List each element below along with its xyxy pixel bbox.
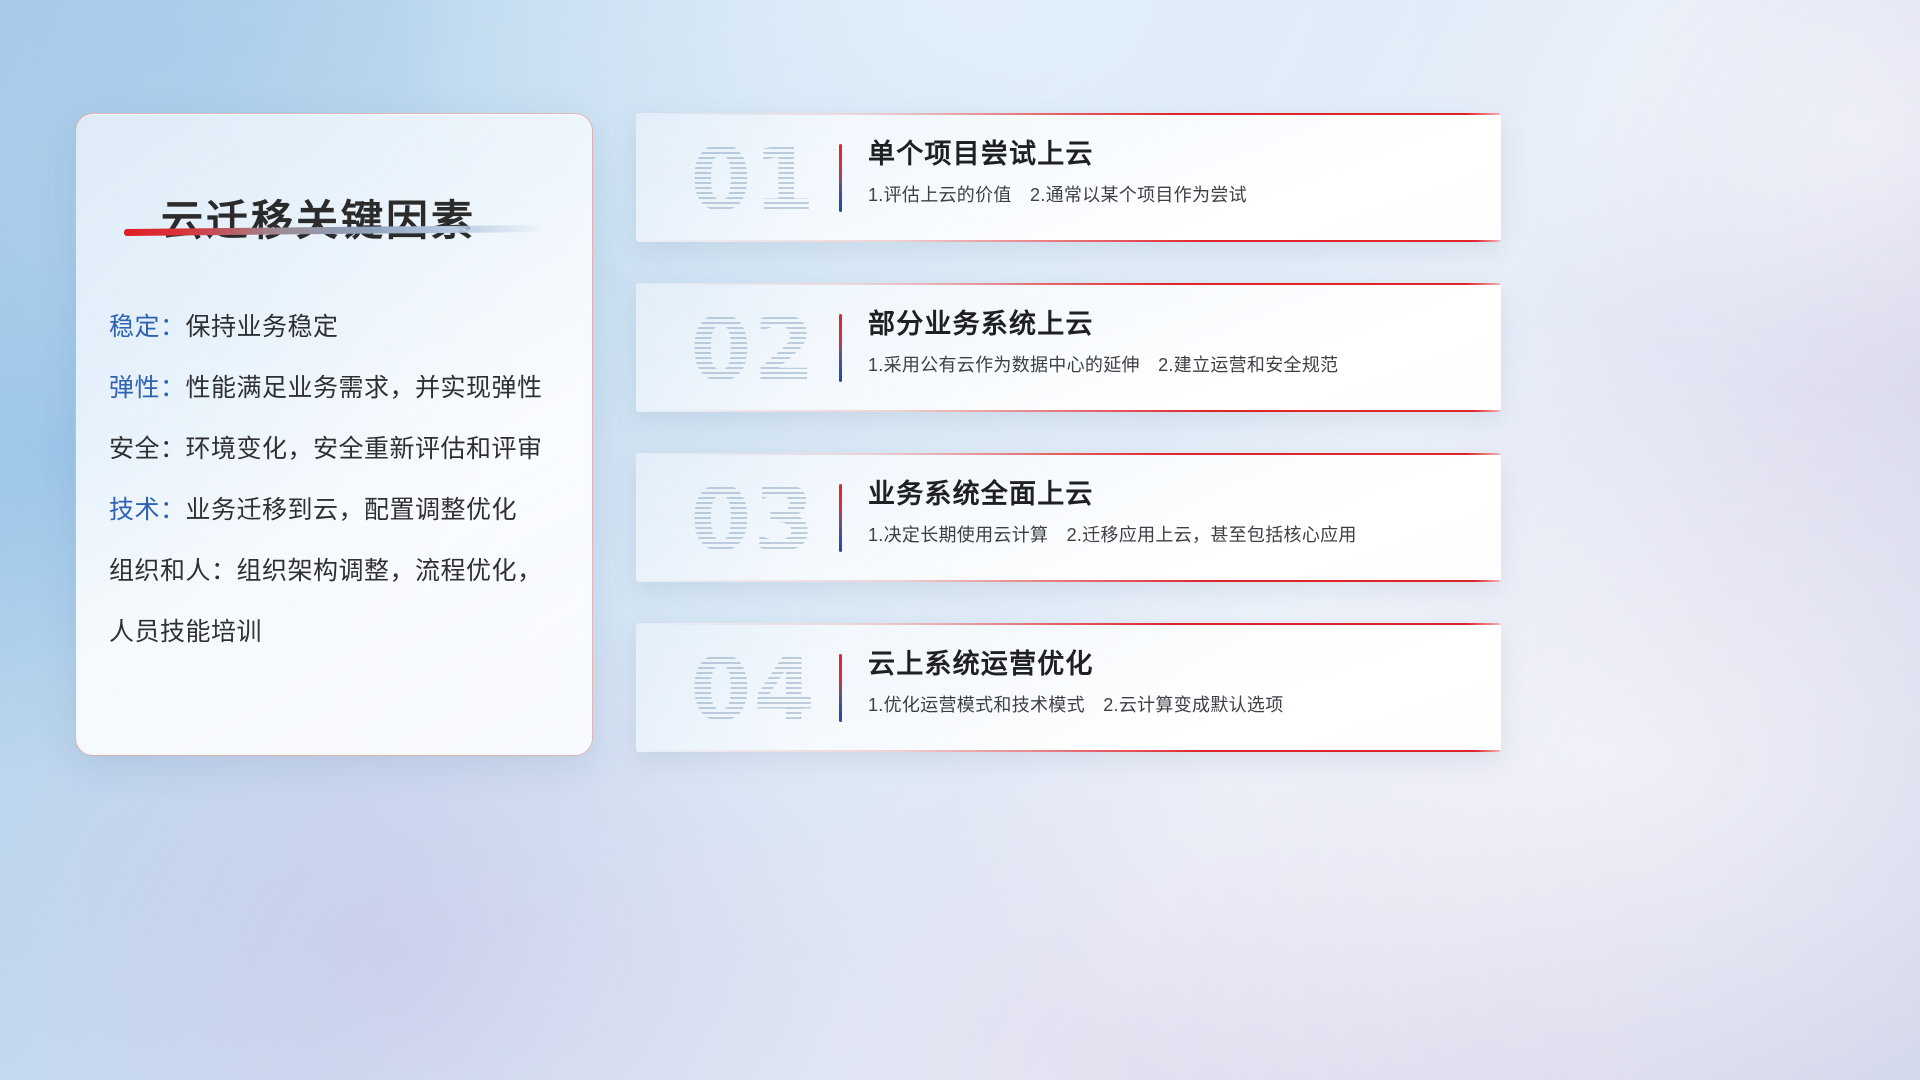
list-item-text: 组织架构调整，流程优化， bbox=[237, 557, 543, 585]
list-item-text: 环境变化，安全重新评估和评审 bbox=[186, 435, 543, 463]
list-item-label: 弹性： bbox=[109, 374, 186, 402]
list-item: 弹性：性能满足业务需求，并实现弹性 bbox=[109, 370, 568, 406]
stage-title: 部分业务系统上云 bbox=[868, 305, 1477, 343]
stage-accent-bar bbox=[839, 144, 842, 212]
stage-description: 1.决定长期使用云计算 2.迁移应用上云，甚至包括核心应用 bbox=[868, 522, 1477, 548]
list-item-text: 性能满足业务需求，并实现弹性 bbox=[186, 374, 543, 402]
stage-number-watermark: 04 bbox=[666, 637, 841, 741]
stage-card-body: 云上系统运营优化 1.优化运营模式和技术模式 2.云计算变成默认选项 bbox=[868, 645, 1477, 718]
list-item: 稳定：保持业务稳定 bbox=[109, 309, 568, 345]
stage-description: 1.优化运营模式和技术模式 2.云计算变成默认选项 bbox=[868, 692, 1477, 718]
list-item-label: 稳定： bbox=[109, 313, 186, 341]
stage-number-watermark: 02 bbox=[666, 297, 841, 401]
list-item-label: 技术： bbox=[109, 496, 186, 524]
list-item-text-line2: 人员技能培训 bbox=[109, 614, 568, 650]
stage-card[interactable]: 03 业务系统全面上云 1.决定长期使用云计算 2.迁移应用上云，甚至包括核心应… bbox=[636, 453, 1501, 582]
stage-card[interactable]: 02 部分业务系统上云 1.采用公有云作为数据中心的延伸 2.建立运营和安全规范 bbox=[636, 283, 1501, 412]
stage-card[interactable]: 04 云上系统运营优化 1.优化运营模式和技术模式 2.云计算变成默认选项 bbox=[636, 623, 1501, 752]
stage-title: 业务系统全面上云 bbox=[868, 475, 1477, 513]
list-item: 安全：环境变化，安全重新评估和评审 bbox=[109, 431, 568, 467]
stage-card-body: 部分业务系统上云 1.采用公有云作为数据中心的延伸 2.建立运营和安全规范 bbox=[868, 305, 1477, 378]
stages-card-list: 01 单个项目尝试上云 1.评估上云的价值 2.通常以某个项目作为尝试 02 部… bbox=[636, 113, 1501, 793]
list-item: 组织和人：组织架构调整，流程优化， 人员技能培训 bbox=[109, 553, 568, 650]
list-item-label: 安全： bbox=[109, 435, 186, 463]
stage-title: 云上系统运营优化 bbox=[868, 645, 1477, 683]
stage-number-watermark: 01 bbox=[666, 127, 841, 231]
stage-card-body: 单个项目尝试上云 1.评估上云的价值 2.通常以某个项目作为尝试 bbox=[868, 135, 1477, 208]
key-factors-panel-inner: 云迁移关键因素 稳定：保持业务稳定 弹性：性能满足业务需求，并实现弹性 安全：环… bbox=[76, 114, 592, 755]
stage-card[interactable]: 01 单个项目尝试上云 1.评估上云的价值 2.通常以某个项目作为尝试 bbox=[636, 113, 1501, 242]
stage-accent-bar bbox=[839, 484, 842, 552]
stage-title: 单个项目尝试上云 bbox=[868, 135, 1477, 173]
key-factors-panel: 云迁移关键因素 稳定：保持业务稳定 弹性：性能满足业务需求，并实现弹性 安全：环… bbox=[75, 113, 593, 756]
stage-description: 1.采用公有云作为数据中心的延伸 2.建立运营和安全规范 bbox=[868, 352, 1477, 378]
page-title: 云迁移关键因素 bbox=[161, 187, 476, 248]
list-item-text: 保持业务稳定 bbox=[186, 313, 339, 341]
stage-accent-bar bbox=[839, 654, 842, 722]
stage-card-body: 业务系统全面上云 1.决定长期使用云计算 2.迁移应用上云，甚至包括核心应用 bbox=[868, 475, 1477, 548]
stage-accent-bar bbox=[839, 314, 842, 382]
list-item: 技术：业务迁移到云，配置调整优化 bbox=[109, 492, 568, 528]
stage-description: 1.评估上云的价值 2.通常以某个项目作为尝试 bbox=[868, 182, 1477, 208]
stage-number-watermark: 03 bbox=[666, 467, 841, 571]
list-item-label: 组织和人： bbox=[109, 557, 237, 585]
key-factors-list: 稳定：保持业务稳定 弹性：性能满足业务需求，并实现弹性 安全：环境变化，安全重新… bbox=[109, 309, 568, 675]
list-item-text: 业务迁移到云，配置调整优化 bbox=[186, 496, 518, 524]
